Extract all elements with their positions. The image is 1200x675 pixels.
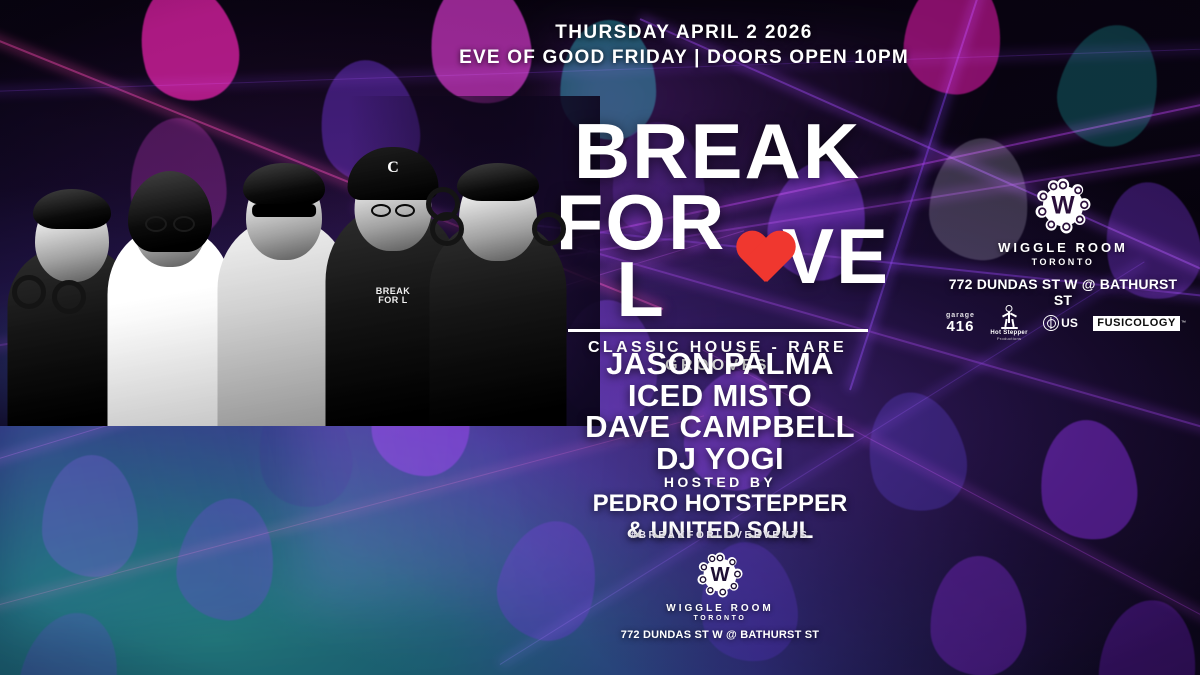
event-flyer: CBREAKFOR L THURSDAY APRIL 2 2026 EVE OF… <box>0 0 1200 675</box>
dj-portrait <box>106 158 234 426</box>
headphones-icon <box>52 280 86 314</box>
headphones-icon <box>532 212 566 246</box>
eyeglasses-icon <box>395 204 415 217</box>
eyeglasses-icon <box>173 216 195 232</box>
headphones-icon <box>430 212 464 246</box>
eyeglasses-icon <box>145 216 167 232</box>
sunglasses-icon <box>252 204 316 217</box>
headphones-icon <box>12 275 46 309</box>
cap-letter-c: C <box>387 159 399 177</box>
dj-shirt-text: BREAKFOR L <box>376 287 411 306</box>
dj-hair <box>33 189 111 229</box>
eyeglasses-icon <box>371 204 391 217</box>
dj-hair <box>457 163 539 201</box>
dj-portrait <box>428 146 568 426</box>
dj-hair <box>128 171 212 252</box>
dj-hair <box>243 163 325 206</box>
